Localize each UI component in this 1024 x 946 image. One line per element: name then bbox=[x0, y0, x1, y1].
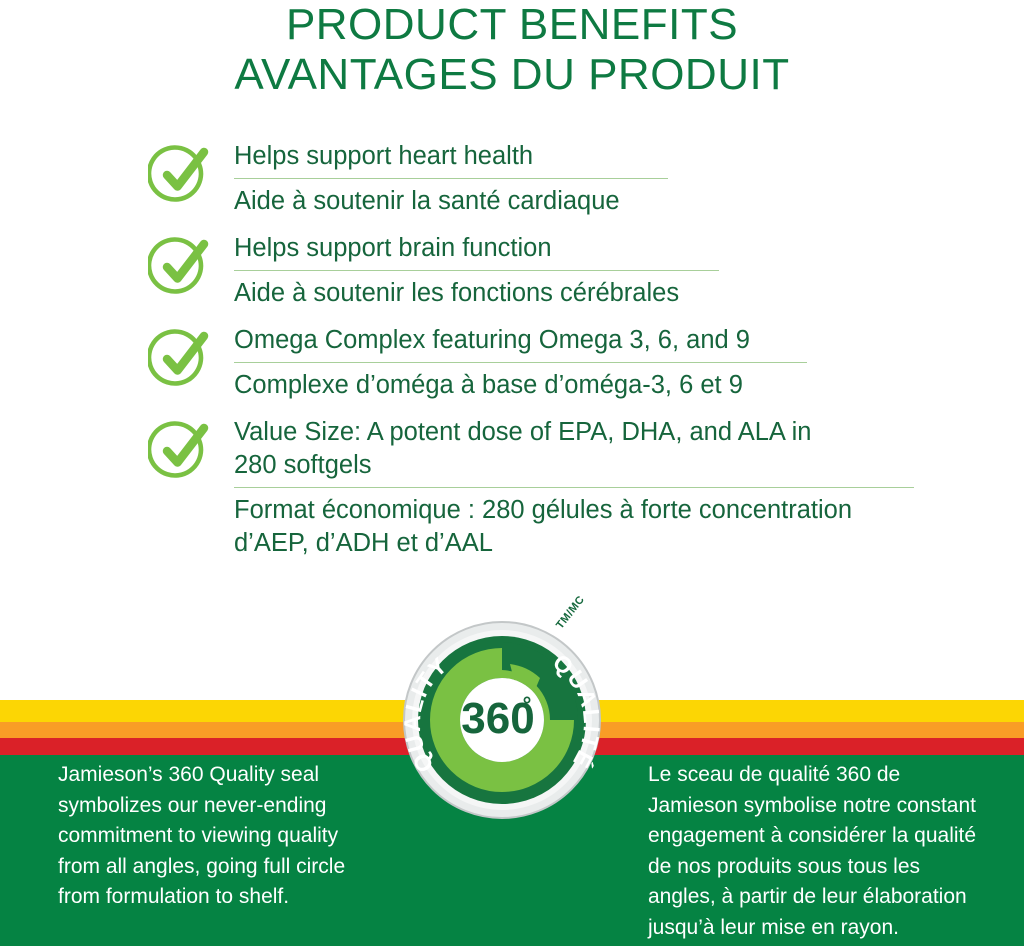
title-line-french: AVANTAGES DU PRODUIT bbox=[0, 50, 1024, 100]
footer-text-english: Jamieson’s 360 Quality seal symbolizes o… bbox=[58, 760, 408, 913]
benefit-text-english: Helps support brain function bbox=[234, 232, 988, 265]
benefit-text-french: Aide à soutenir la santé cardiaque bbox=[234, 185, 988, 218]
benefit-item: Helps support brain function Aide à sout… bbox=[148, 230, 988, 310]
title-line-english: PRODUCT BENEFITS bbox=[0, 0, 1024, 50]
benefit-text-french: Format économique : 280 gélules à forte … bbox=[234, 494, 988, 560]
benefit-separator bbox=[234, 270, 719, 271]
benefit-separator bbox=[234, 178, 668, 179]
benefit-text-french: Aide à soutenir les fonctions cérébrales bbox=[234, 277, 988, 310]
check-circle-icon bbox=[148, 230, 234, 298]
benefit-item: Omega Complex featuring Omega 3, 6, and … bbox=[148, 322, 988, 402]
benefit-text-french: Complexe d’oméga à base d’oméga-3, 6 et … bbox=[234, 369, 988, 402]
benefit-texts: Helps support brain function Aide à sout… bbox=[234, 230, 988, 310]
check-circle-icon bbox=[148, 322, 234, 390]
footer-text-french: Le sceau de qualité 360 de Jamieson symb… bbox=[648, 760, 1003, 943]
product-benefits-panel: PRODUCT BENEFITS AVANTAGES DU PRODUIT He… bbox=[0, 0, 1024, 946]
360-quality-seal: QUALITY QUALITÉ 360 ° TM/MC bbox=[402, 620, 602, 820]
benefit-item: Helps support heart health Aide à souten… bbox=[148, 138, 988, 218]
page-title: PRODUCT BENEFITS AVANTAGES DU PRODUIT bbox=[0, 0, 1024, 100]
benefit-texts: Helps support heart health Aide à souten… bbox=[234, 138, 988, 218]
benefit-separator bbox=[234, 487, 914, 488]
seal-degree-symbol: ° bbox=[523, 692, 532, 717]
check-circle-icon bbox=[148, 138, 234, 206]
benefit-separator bbox=[234, 362, 807, 363]
benefit-text-english: Value Size: A potent dose of EPA, DHA, a… bbox=[234, 416, 988, 482]
benefit-item: Value Size: A potent dose of EPA, DHA, a… bbox=[148, 414, 988, 560]
benefit-text-english: Omega Complex featuring Omega 3, 6, and … bbox=[234, 324, 988, 357]
benefit-text-english: Helps support heart health bbox=[234, 140, 988, 173]
benefits-list: Helps support heart health Aide à souten… bbox=[148, 138, 988, 572]
check-circle-icon bbox=[148, 414, 234, 482]
benefit-texts: Value Size: A potent dose of EPA, DHA, a… bbox=[234, 414, 988, 560]
benefit-texts: Omega Complex featuring Omega 3, 6, and … bbox=[234, 322, 988, 402]
